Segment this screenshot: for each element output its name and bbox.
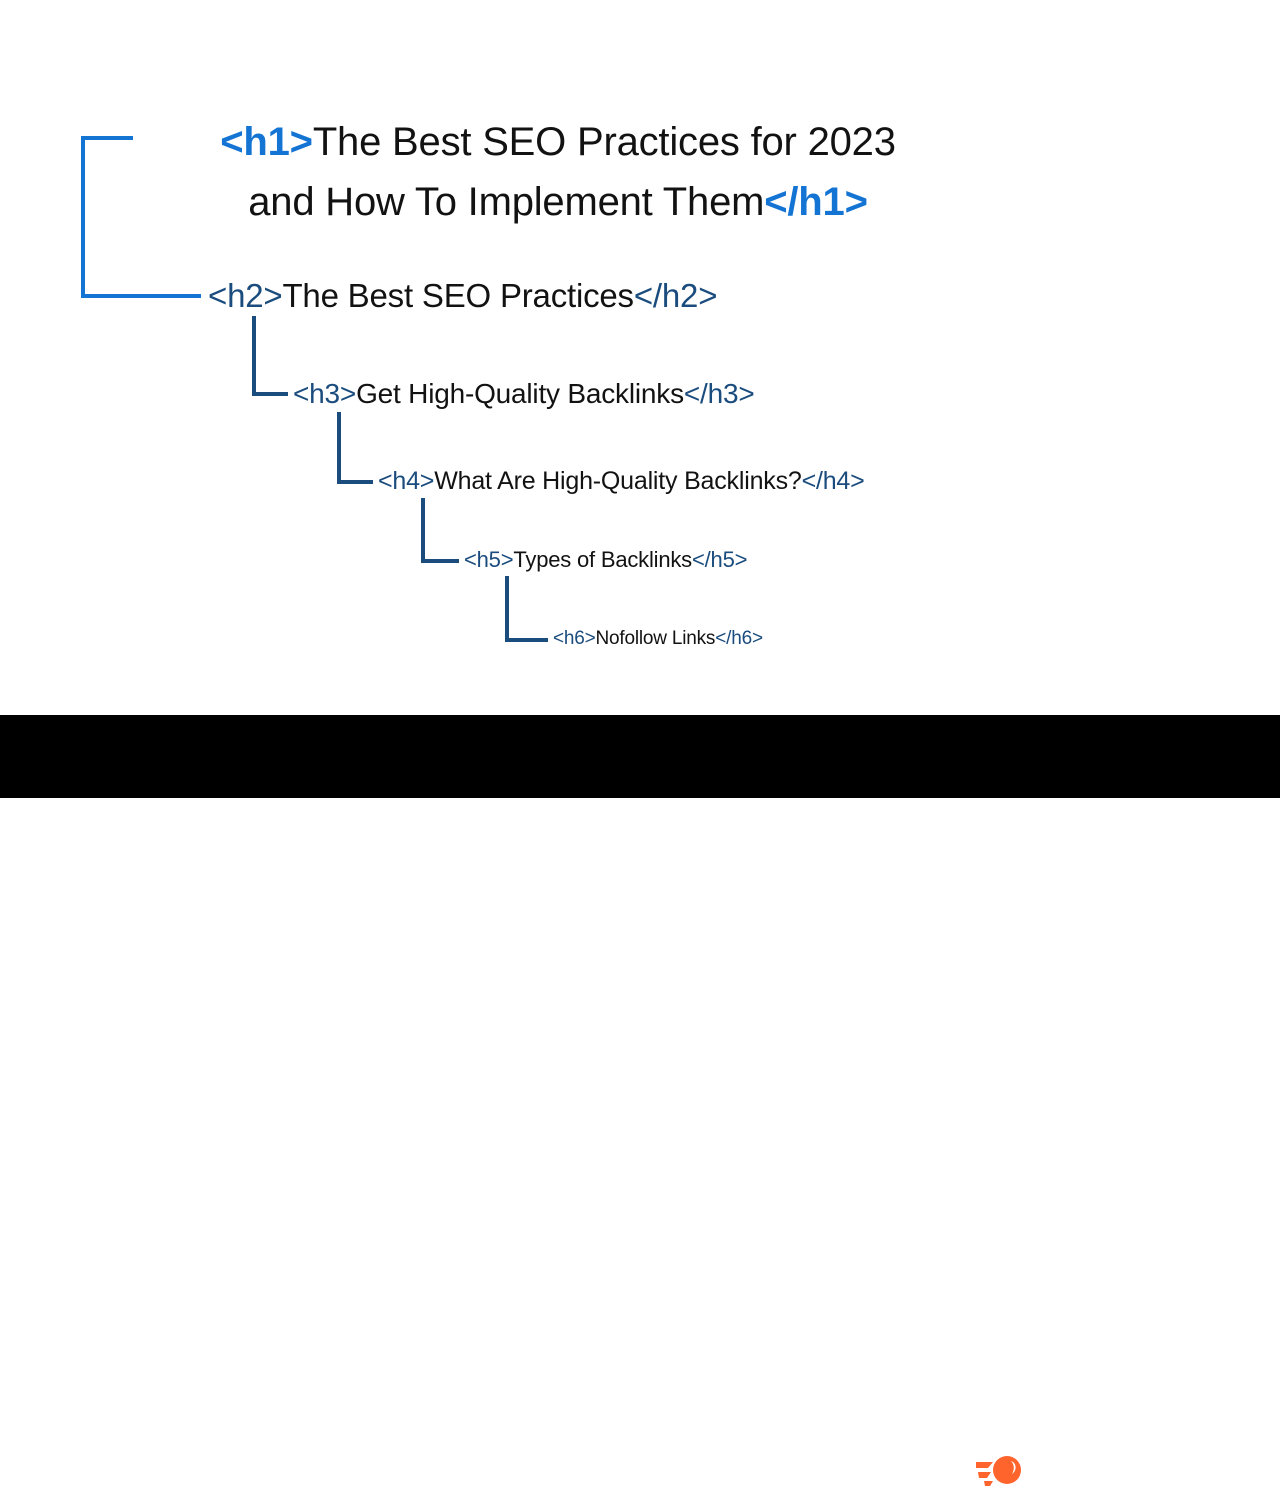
footer-website-url: semrush.com bbox=[80, 1459, 196, 1481]
heading-h2-text: The Best SEO Practices bbox=[282, 277, 633, 314]
tag-open-h4: <h4> bbox=[378, 467, 434, 495]
tag-open-h3: <h3> bbox=[293, 378, 356, 409]
heading-node-h2: <h2>The Best SEO Practices</h2> bbox=[208, 274, 717, 318]
heading-h5-text: Types of Backlinks bbox=[513, 547, 692, 572]
tag-close-h1: </h1> bbox=[764, 180, 868, 224]
tag-close-h2: </h2> bbox=[634, 277, 717, 314]
heading-node-h5: <h5>Types of Backlinks</h5> bbox=[464, 545, 747, 575]
tag-close-h6: </h6> bbox=[715, 628, 763, 649]
heading-node-h4: <h4>What Are High-Quality Backlinks?</h4… bbox=[378, 464, 865, 498]
connector-h4-to-h5 bbox=[423, 500, 457, 561]
heading-node-h1: <h1>The Best SEO Practices for 2023 and … bbox=[118, 112, 998, 232]
heading-h3-text: Get High-Quality Backlinks bbox=[356, 378, 684, 409]
hierarchy-connector-lines bbox=[0, 0, 1280, 715]
heading-h1-text-line-2: and How To Implement Them bbox=[248, 180, 764, 224]
semrush-wordmark: SEMRUSH bbox=[1042, 1455, 1202, 1485]
connector-h2-to-h3 bbox=[254, 318, 286, 394]
tag-open-h2: <h2> bbox=[208, 277, 282, 314]
heading-node-h3: <h3>Get High-Quality Backlinks</h3> bbox=[293, 375, 755, 413]
heading-node-h6: <h6>Nofollow Links</h6> bbox=[553, 626, 763, 652]
connector-h3-to-h4 bbox=[339, 414, 371, 482]
heading-h6-text: Nofollow Links bbox=[596, 628, 716, 649]
heading-h4-text: What Are High-Quality Backlinks? bbox=[434, 467, 801, 495]
tag-close-h5: </h5> bbox=[692, 547, 747, 572]
tag-open-h1: <h1> bbox=[220, 120, 313, 164]
connector-h5-to-h6 bbox=[507, 578, 546, 640]
semrush-brand-lockup: SEMRUSH bbox=[976, 1451, 1202, 1489]
heading-h1-line-2: and How To Implement Them</h1> bbox=[118, 172, 998, 232]
tag-open-h5: <h5> bbox=[464, 547, 513, 572]
heading-h1-line-1: <h1>The Best SEO Practices for 2023 bbox=[118, 112, 998, 172]
semrush-comet-icon bbox=[976, 1451, 1028, 1489]
heading-h1-text-line-1: The Best SEO Practices for 2023 bbox=[313, 120, 896, 164]
tag-close-h4: </h4> bbox=[802, 467, 865, 495]
footer-bar: semrush.com SEMRUSH bbox=[0, 715, 1280, 798]
diagram-canvas: <h1>The Best SEO Practices for 2023 and … bbox=[0, 0, 1280, 715]
tag-open-h6: <h6> bbox=[553, 628, 596, 649]
tag-close-h3: </h3> bbox=[684, 378, 755, 409]
